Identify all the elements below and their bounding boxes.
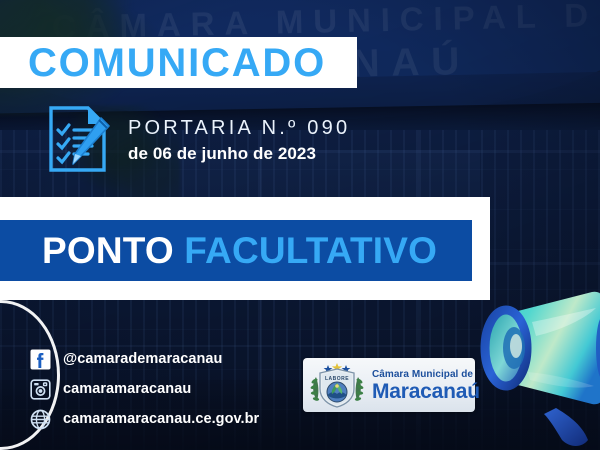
instagram-icon[interactable] <box>30 379 51 400</box>
social-handle: @camarademaracanau <box>63 351 222 367</box>
portaria-texts: PORTARIA N.º 090 de 06 de junho de 2023 <box>128 114 350 164</box>
banner-bar: PONTO FACULTATIVO <box>0 220 472 281</box>
social-list: @camarademaracanau camaramaracanau camar… <box>30 348 259 430</box>
banner-text: PONTO FACULTATIVO <box>0 232 437 269</box>
portaria-row: PORTARIA N.º 090 de 06 de junho de 2023 <box>48 106 350 172</box>
megaphone-icon <box>470 288 600 450</box>
social-row-website[interactable]: camaramaracanau.ce.gov.br <box>30 408 259 430</box>
social-handle: camaramaracanau.ce.gov.br <box>63 411 259 427</box>
banner-word-one: PONTO <box>42 230 174 271</box>
coat-of-arms-icon: LABORE <box>309 361 365 409</box>
headline-text: COMUNICADO <box>0 43 326 83</box>
social-handle: camaramaracanau <box>63 381 191 397</box>
social-row-instagram[interactable]: camaramaracanau <box>30 378 259 400</box>
logo-plate[interactable]: LABORE Câmara Municipal de Maracanaú <box>303 358 475 412</box>
globe-icon[interactable] <box>30 409 51 430</box>
document-check-pencil-icon <box>48 106 110 172</box>
portaria-date: de 06 de junho de 2023 <box>128 144 350 164</box>
headline-banner: COMUNICADO <box>0 37 357 88</box>
logo-wordmark: Câmara Municipal de Maracanaú <box>372 368 480 402</box>
logo-line-two: Maracanaú <box>372 381 480 402</box>
poster-canvas: CÂMARA MUNICIPAL DE MARACANAÚ COMUNICADO <box>0 0 600 450</box>
social-row-facebook[interactable]: @camarademaracanau <box>30 348 259 370</box>
portaria-number: PORTARIA N.º 090 <box>128 116 350 141</box>
logo-line-one: Câmara Municipal de <box>372 370 480 380</box>
facebook-icon[interactable] <box>30 349 51 370</box>
banner-word-two: FACULTATIVO <box>184 230 437 271</box>
crest-motto: LABORE <box>325 376 349 382</box>
